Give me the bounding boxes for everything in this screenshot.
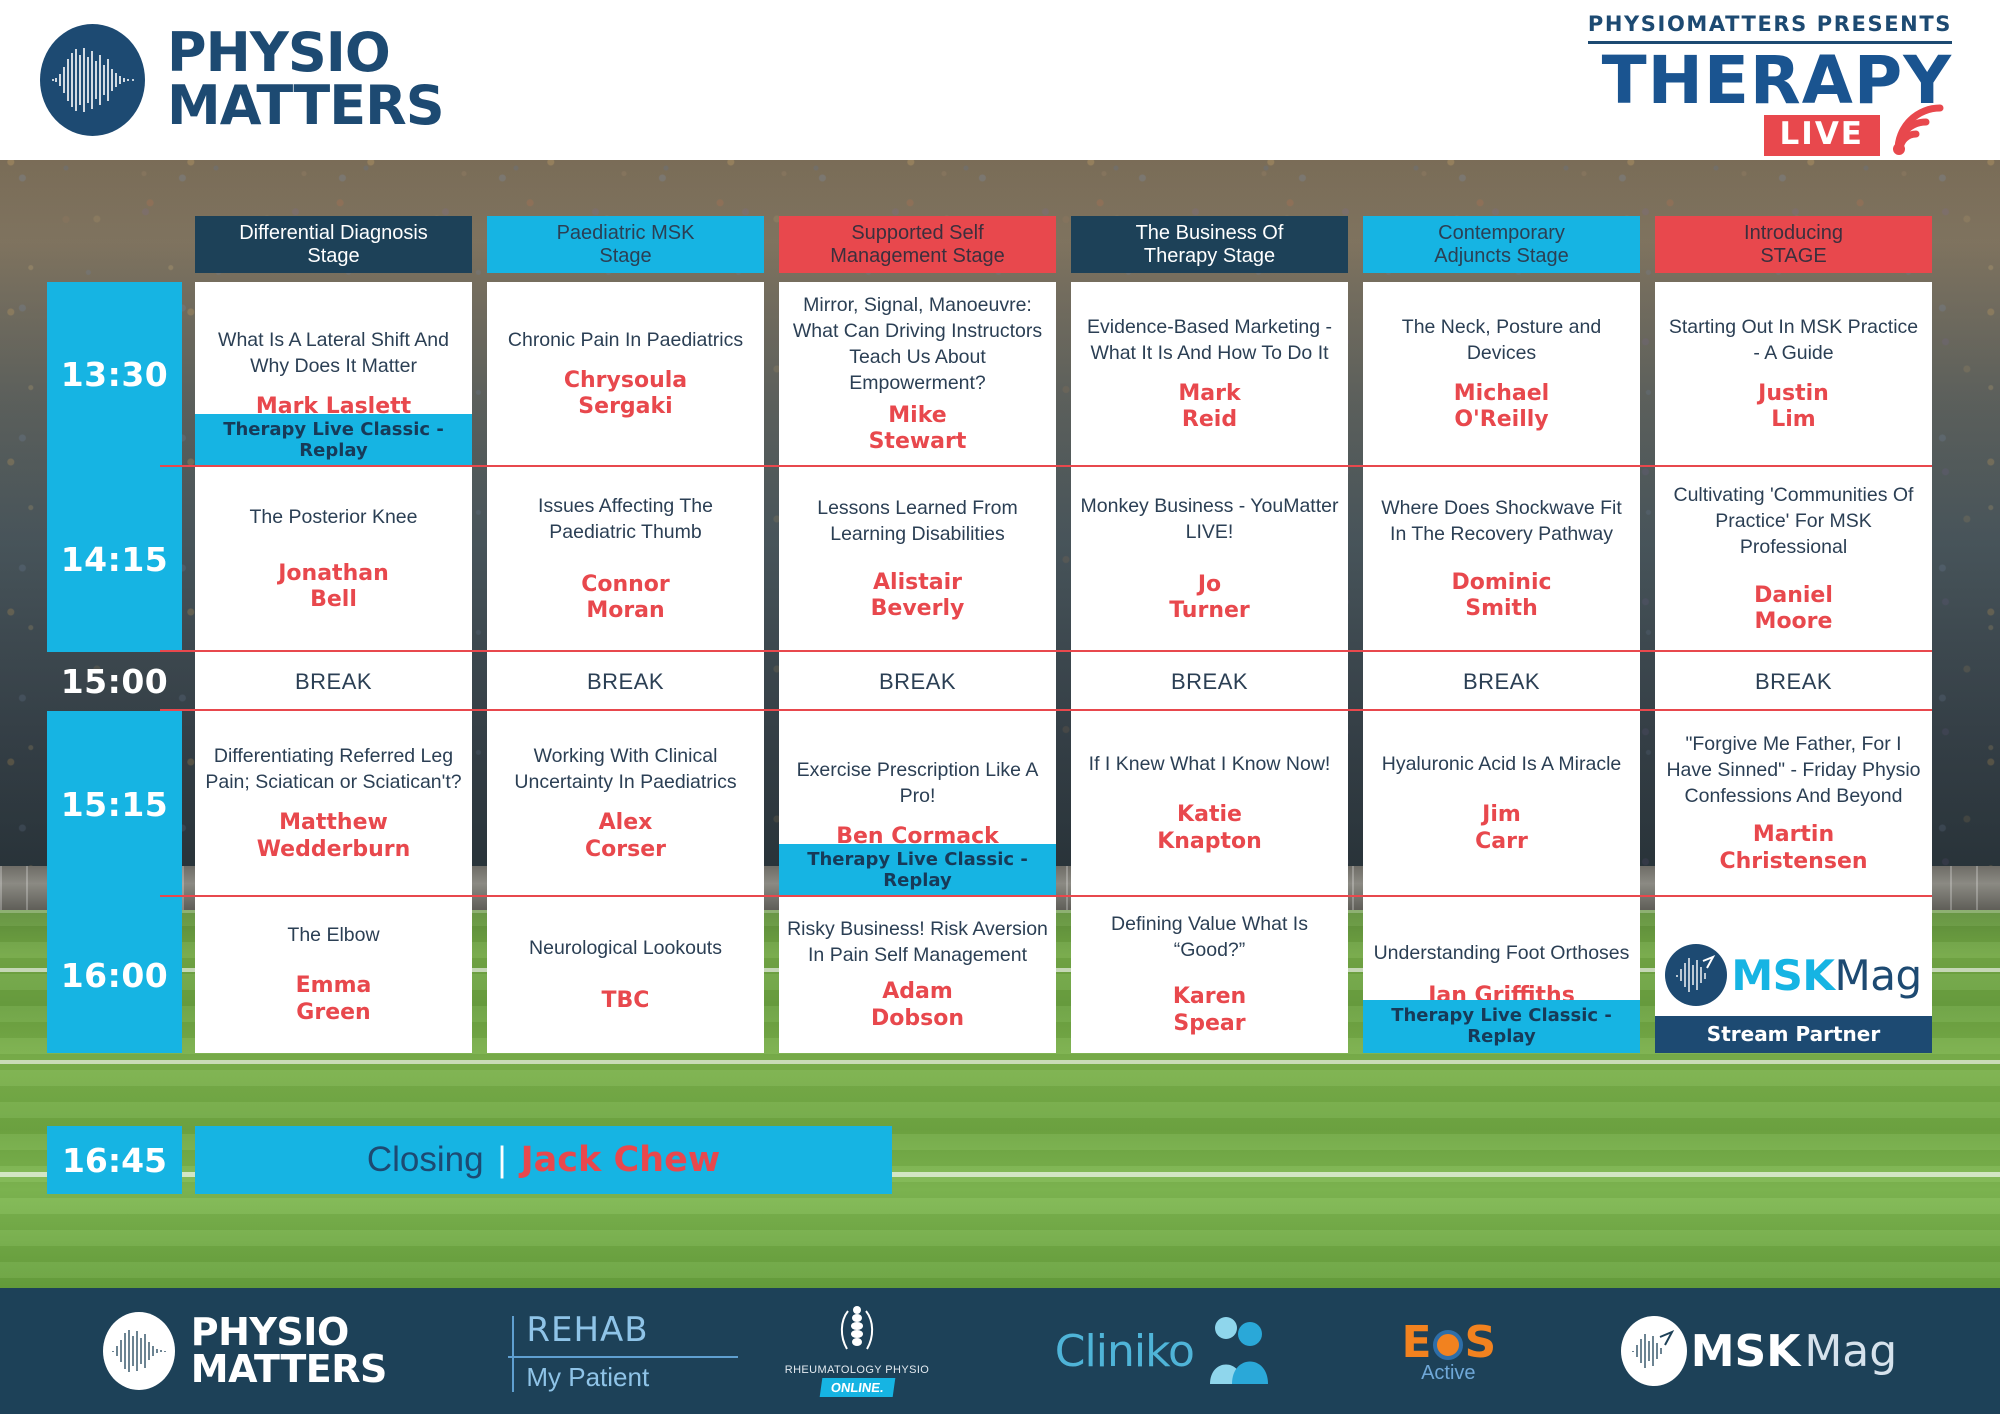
session-title: The Posterior Knee	[249, 505, 417, 531]
speaker-last: O'Reilly	[1454, 407, 1549, 434]
speaker-last: Reid	[1178, 407, 1240, 434]
stage-header-line-1: Supported Self	[830, 222, 1005, 245]
session-speaker: Martin Christensen	[1719, 822, 1867, 876]
session-title: Differentiating Referred Leg Pain; Sciat…	[203, 744, 464, 796]
speaker-last: Spear	[1173, 1011, 1246, 1038]
session-speaker: Justin Lim	[1758, 381, 1829, 435]
session-speaker: Alistair Beverly	[871, 570, 965, 624]
session-card[interactable]: Starting Out In MSK Practice - A Guide J…	[1655, 282, 1932, 467]
schedule-row-1600: 16:00 The Elbow Emma Green Neurological …	[0, 897, 1932, 1053]
stage-header-line-2: Stage	[239, 245, 428, 268]
speaker-last: Stewart	[869, 429, 967, 456]
sponsor-physio-matters[interactable]: PHYSIO MATTERS	[103, 1312, 387, 1390]
session-card[interactable]: The Neck, Posture and Devices Michael O'…	[1363, 282, 1640, 467]
speaker-first: Dominic	[1451, 570, 1551, 597]
speaker-last: Bell	[278, 587, 389, 614]
sponsor-cliniko[interactable]: Cliniko	[1055, 1314, 1276, 1389]
session-card[interactable]: Understanding Foot Orthoses Ian Griffith…	[1363, 897, 1640, 1053]
speaker-first: Emma	[296, 973, 372, 1000]
stage-header-contemporary-adjuncts[interactable]: Contemporary Adjuncts Stage	[1363, 216, 1640, 273]
session-title: Monkey Business - YouMatter LIVE!	[1079, 494, 1340, 546]
sponsor-line-1: MSK	[1691, 1326, 1801, 1377]
session-title: Working With Clinical Uncertainty In Pae…	[495, 744, 756, 796]
sponsor-line-2: Active	[1421, 1362, 1475, 1385]
therapy-live-logo: PHYSIOMATTERS PRESENTS THERAPY LIVE	[1588, 4, 1952, 156]
stage-header-line-1: Contemporary	[1434, 222, 1569, 245]
audio-waveform-icon	[1665, 944, 1727, 1006]
session-card[interactable]: Issues Affecting The Paediatric Thumb Co…	[487, 467, 764, 652]
presents-label: PHYSIOMATTERS PRESENTS	[1588, 12, 1952, 44]
stage-header-paediatric-msk[interactable]: Paediatric MSK Stage	[487, 216, 764, 273]
speaker-first: Katie	[1157, 802, 1262, 829]
therapy-live-schedule-poster: PHYSIO MATTERS PHYSIOMATTERS PRESENTS TH…	[0, 0, 2000, 1414]
break-label: BREAK	[1755, 669, 1832, 695]
time-label-1515: 15:15	[47, 711, 182, 897]
speaker-last: Moore	[1754, 609, 1833, 636]
session-title: Understanding Foot Orthoses	[1374, 941, 1630, 967]
closing-row: 16:45 Closing | Jack Chew	[0, 1126, 892, 1194]
session-title: Risky Business! Risk Aversion In Pain Se…	[787, 917, 1048, 969]
session-card[interactable]: Mirror, Signal, Manoeuvre: What Can Driv…	[779, 282, 1056, 467]
session-speaker: Chrysoula Sergaki	[564, 368, 687, 422]
session-card[interactable]: Working With Clinical Uncertainty In Pae…	[487, 711, 764, 897]
wifi-signal-icon	[1890, 100, 1952, 156]
brand-line-1: PHYSIO	[167, 27, 444, 80]
session-speaker: Matthew Wedderburn	[257, 810, 411, 864]
session-speaker: Emma Green	[296, 973, 372, 1027]
speaker-last: Lim	[1758, 407, 1829, 434]
mskmag-text-1: MSK	[1731, 951, 1834, 1000]
replay-badge: Therapy Live Classic - Replay	[1363, 1000, 1640, 1053]
time-label-1600: 16:00	[47, 897, 182, 1053]
session-title: Chronic Pain In Paediatrics	[508, 328, 743, 354]
session-speaker: Jonathan Bell	[278, 561, 389, 615]
closing-label: Closing	[367, 1140, 484, 1180]
session-card[interactable]: The Posterior Knee Jonathan Bell	[195, 467, 472, 652]
session-title: Cultivating 'Communities Of Practice' Fo…	[1663, 483, 1924, 561]
audio-waveform-icon	[40, 24, 145, 136]
break-label: BREAK	[587, 669, 664, 695]
stage-header-line-1: Differential Diagnosis	[239, 222, 428, 245]
session-speaker: Alex Corser	[585, 810, 666, 864]
break-card: BREAK	[1655, 652, 1932, 711]
schedule-rows: 13:30 What Is A Lateral Shift And Why Do…	[0, 282, 1932, 1053]
sponsor-line-1: Cliniko	[1055, 1326, 1194, 1377]
session-card[interactable]: The Elbow Emma Green	[195, 897, 472, 1053]
stage-header-line-2: STAGE	[1744, 245, 1843, 268]
page-header: PHYSIO MATTERS PHYSIOMATTERS PRESENTS TH…	[0, 0, 2000, 160]
sponsor-line-2: MATTERS	[191, 1351, 387, 1388]
speaker-first: Daniel	[1754, 583, 1833, 610]
schedule-row-1415: 14:15 The Posterior Knee Jonathan Bell I…	[0, 467, 1932, 652]
session-card[interactable]: What Is A Lateral Shift And Why Does It …	[195, 282, 472, 467]
stage-header-line-2: Adjuncts Stage	[1434, 245, 1569, 268]
speaker-last: Wedderburn	[257, 837, 411, 864]
session-card[interactable]: Chronic Pain In Paediatrics Chrysoula Se…	[487, 282, 764, 467]
session-title: The Neck, Posture and Devices	[1371, 315, 1632, 367]
session-speaker: Daniel Moore	[1754, 583, 1833, 637]
speaker-first: Jim	[1475, 802, 1528, 829]
break-label: BREAK	[295, 669, 372, 695]
session-speaker: Karen Spear	[1173, 984, 1246, 1038]
stage-header-line-2: Therapy Stage	[1136, 245, 1284, 268]
speaker-first: Martin	[1719, 822, 1867, 849]
closing-host-name: Jack Chew	[521, 1140, 721, 1180]
time-label-1500: 15:00	[47, 652, 182, 711]
speaker-last: Christensen	[1719, 849, 1867, 876]
speaker-last: Beverly	[871, 596, 965, 623]
session-card[interactable]: Hyaluronic Acid Is A Miracle Jim Carr	[1363, 711, 1640, 897]
closing-session-bar[interactable]: Closing | Jack Chew	[195, 1126, 892, 1194]
session-title: What Is A Lateral Shift And Why Does It …	[203, 328, 464, 380]
speaker-first: Alistair	[871, 570, 965, 597]
speaker-last: Dobson	[871, 1006, 964, 1033]
break-label: BREAK	[1463, 669, 1540, 695]
stage-header-supported-self-management[interactable]: Supported Self Management Stage	[779, 216, 1056, 273]
speaker-last: Smith	[1451, 596, 1551, 623]
session-title: Neurological Lookouts	[529, 936, 722, 962]
session-speaker: Jo Turner	[1169, 572, 1250, 626]
speaker-first: Mike	[869, 403, 967, 430]
time-label-1645: 16:45	[47, 1126, 182, 1194]
session-title: Mirror, Signal, Manoeuvre: What Can Driv…	[787, 293, 1048, 397]
break-card: BREAK	[779, 652, 1056, 711]
speaker-first: Karen	[1173, 984, 1246, 1011]
break-card: BREAK	[487, 652, 764, 711]
sponsor-line-1: REHAB	[526, 1310, 648, 1350]
replay-badge: Therapy Live Classic - Replay	[779, 844, 1056, 897]
sponsor-line-2: My Patient	[526, 1362, 659, 1393]
schedule-grid: Differential Diagnosis Stage Paediatric …	[0, 126, 2000, 1288]
sponsor-line-1: PHYSIO	[191, 1314, 387, 1351]
stage-header-line-1: Paediatric MSK	[557, 222, 695, 245]
session-card[interactable]: Risky Business! Risk Aversion In Pain Se…	[779, 897, 1056, 1053]
session-title: Hyaluronic Acid Is A Miracle	[1382, 752, 1622, 778]
stage-header-line-2: Stage	[557, 245, 695, 268]
session-title: "Forgive Me Father, For I Have Sinned" -…	[1663, 732, 1924, 810]
speaker-first: Alex	[585, 810, 666, 837]
break-card: BREAK	[1071, 652, 1348, 711]
session-card[interactable]: Cultivating 'Communities Of Practice' Fo…	[1655, 467, 1932, 652]
speaker-first: Mark	[1178, 381, 1240, 408]
live-badge: LIVE	[1764, 115, 1880, 156]
sponsor-line-2: ONLINE.	[819, 1378, 894, 1397]
stage-header-row: Differential Diagnosis Stage Paediatric …	[195, 216, 1932, 273]
session-card[interactable]: Neurological Lookouts TBC	[487, 897, 764, 1053]
sponsor-rheumatology-physio-online[interactable]: RHEUMATOLOGY PHYSIO ONLINE.	[785, 1305, 930, 1397]
speaker-last: Moran	[581, 598, 670, 625]
speaker-last: Corser	[585, 837, 666, 864]
session-speaker: Mike Stewart	[869, 403, 967, 457]
session-title: The Elbow	[287, 923, 379, 949]
stage-header-introducing-stage[interactable]: Introducing STAGE	[1655, 216, 1932, 273]
brand-wordmark: PHYSIO MATTERS	[167, 27, 444, 133]
time-label-1330: 13:30	[47, 282, 182, 467]
brand-line-2: MATTERS	[167, 80, 444, 133]
break-card: BREAK	[1363, 652, 1640, 711]
session-title: Issues Affecting The Paediatric Thumb	[495, 494, 756, 546]
rehab-vertical-rule	[512, 1316, 514, 1392]
speaker-last: Turner	[1169, 598, 1250, 625]
mskmag-logo: MSKMag	[1665, 944, 1921, 1006]
sponsor-line-1: RHEUMATOLOGY PHYSIO	[785, 1364, 930, 1376]
session-speaker: Mark Reid	[1178, 381, 1240, 435]
session-speaker: Jim Carr	[1475, 802, 1528, 856]
speaker-first: Jonathan	[278, 561, 389, 588]
speaker-last: Sergaki	[564, 394, 687, 421]
speaker-first: Jo	[1169, 572, 1250, 599]
physio-matters-logo: PHYSIO MATTERS	[40, 24, 444, 136]
stage-header-line-2: Management Stage	[830, 245, 1005, 268]
replay-badge: Therapy Live Classic - Replay	[195, 414, 472, 467]
speaker-first: Chrysoula	[564, 368, 687, 395]
session-title: Where Does Shockwave Fit In The Recovery…	[1371, 496, 1632, 548]
session-card[interactable]: Exercise Prescription Like A Pro! Ben Co…	[779, 711, 1056, 897]
schedule-row-1515: 15:15 Differentiating Referred Leg Pain;…	[0, 711, 1932, 897]
speaker-last: Green	[296, 1000, 372, 1027]
break-card: BREAK	[195, 652, 472, 711]
session-card[interactable]: Defining Value What Is “Good?” Karen Spe…	[1071, 897, 1348, 1053]
stage-header-differential-diagnosis[interactable]: Differential Diagnosis Stage	[195, 216, 472, 273]
session-title: Lessons Learned From Learning Disabiliti…	[787, 496, 1048, 548]
session-speaker: Michael O'Reilly	[1454, 381, 1549, 435]
audio-waveform-icon	[1621, 1316, 1687, 1386]
session-title: Evidence-Based Marketing - What It Is An…	[1079, 315, 1340, 367]
session-speaker: Adam Dobson	[871, 979, 964, 1033]
session-card[interactable]: Differentiating Referred Leg Pain; Sciat…	[195, 711, 472, 897]
stream-partner-badge: Stream Partner	[1655, 1016, 1932, 1053]
speaker-first: Justin	[1758, 381, 1829, 408]
break-label: BREAK	[1171, 669, 1248, 695]
session-card[interactable]: Monkey Business - YouMatter LIVE! Jo Tur…	[1071, 467, 1348, 652]
time-label-1415: 14:15	[47, 467, 182, 652]
stage-header-line-1: The Business Of	[1136, 222, 1284, 245]
speaker-first: Adam	[871, 979, 964, 1006]
speaker-first: TBC	[602, 988, 650, 1015]
sponsor-line-2: Mag	[1804, 1326, 1897, 1377]
closing-separator: |	[498, 1140, 507, 1180]
session-card[interactable]: Evidence-Based Marketing - What It Is An…	[1071, 282, 1348, 467]
session-card[interactable]: Lessons Learned From Learning Disabiliti…	[779, 467, 1056, 652]
session-speaker: Dominic Smith	[1451, 570, 1551, 624]
audio-waveform-icon	[103, 1312, 175, 1390]
sponsor-rehab-my-patient[interactable]: REHAB My Patient	[512, 1310, 659, 1393]
rehab-horizontal-rule	[508, 1356, 738, 1358]
sponsor-line-1: ES	[1401, 1317, 1495, 1368]
schedule-row-1500-break: 15:00 BREAK BREAK BREAK BREAK BREAK BREA…	[0, 652, 1932, 711]
speaker-last: Knapton	[1157, 829, 1262, 856]
session-speaker: Katie Knapton	[1157, 802, 1262, 856]
session-title: Defining Value What Is “Good?”	[1079, 912, 1340, 964]
session-speaker: Connor Moran	[581, 572, 670, 626]
speaker-first: Connor	[581, 572, 670, 599]
speaker-last: Carr	[1475, 829, 1528, 856]
session-card[interactable]: "Forgive Me Father, For I Have Sinned" -…	[1655, 711, 1932, 897]
sponsor-eos-active[interactable]: ES Active	[1401, 1317, 1495, 1385]
session-speaker: TBC	[602, 988, 650, 1015]
session-title: If I Knew What I Know Now!	[1089, 752, 1331, 778]
session-card[interactable]: If I Knew What I Know Now! Katie Knapton	[1071, 711, 1348, 897]
speaker-first: Matthew	[257, 810, 411, 837]
sponsor-footer: PHYSIO MATTERS REHAB My Patient	[0, 1288, 2000, 1414]
sponsor-mskmag[interactable]: MSK Mag	[1621, 1316, 1897, 1386]
stage-header-business-of-therapy[interactable]: The Business Of Therapy Stage	[1071, 216, 1348, 273]
speaker-first: Michael	[1454, 381, 1549, 408]
people-icon	[1198, 1314, 1276, 1389]
spine-icon	[834, 1305, 880, 1362]
break-label: BREAK	[879, 669, 956, 695]
session-title: Starting Out In MSK Practice - A Guide	[1663, 315, 1924, 367]
stream-partner-card[interactable]: MSKMag Stream Partner	[1655, 897, 1932, 1053]
session-title: Exercise Prescription Like A Pro!	[787, 758, 1048, 810]
schedule-row-1330: 13:30 What Is A Lateral Shift And Why Do…	[0, 282, 1932, 467]
stage-header-line-1: Introducing	[1744, 222, 1843, 245]
session-card[interactable]: Where Does Shockwave Fit In The Recovery…	[1363, 467, 1640, 652]
mskmag-text-2: Mag	[1834, 951, 1921, 1000]
